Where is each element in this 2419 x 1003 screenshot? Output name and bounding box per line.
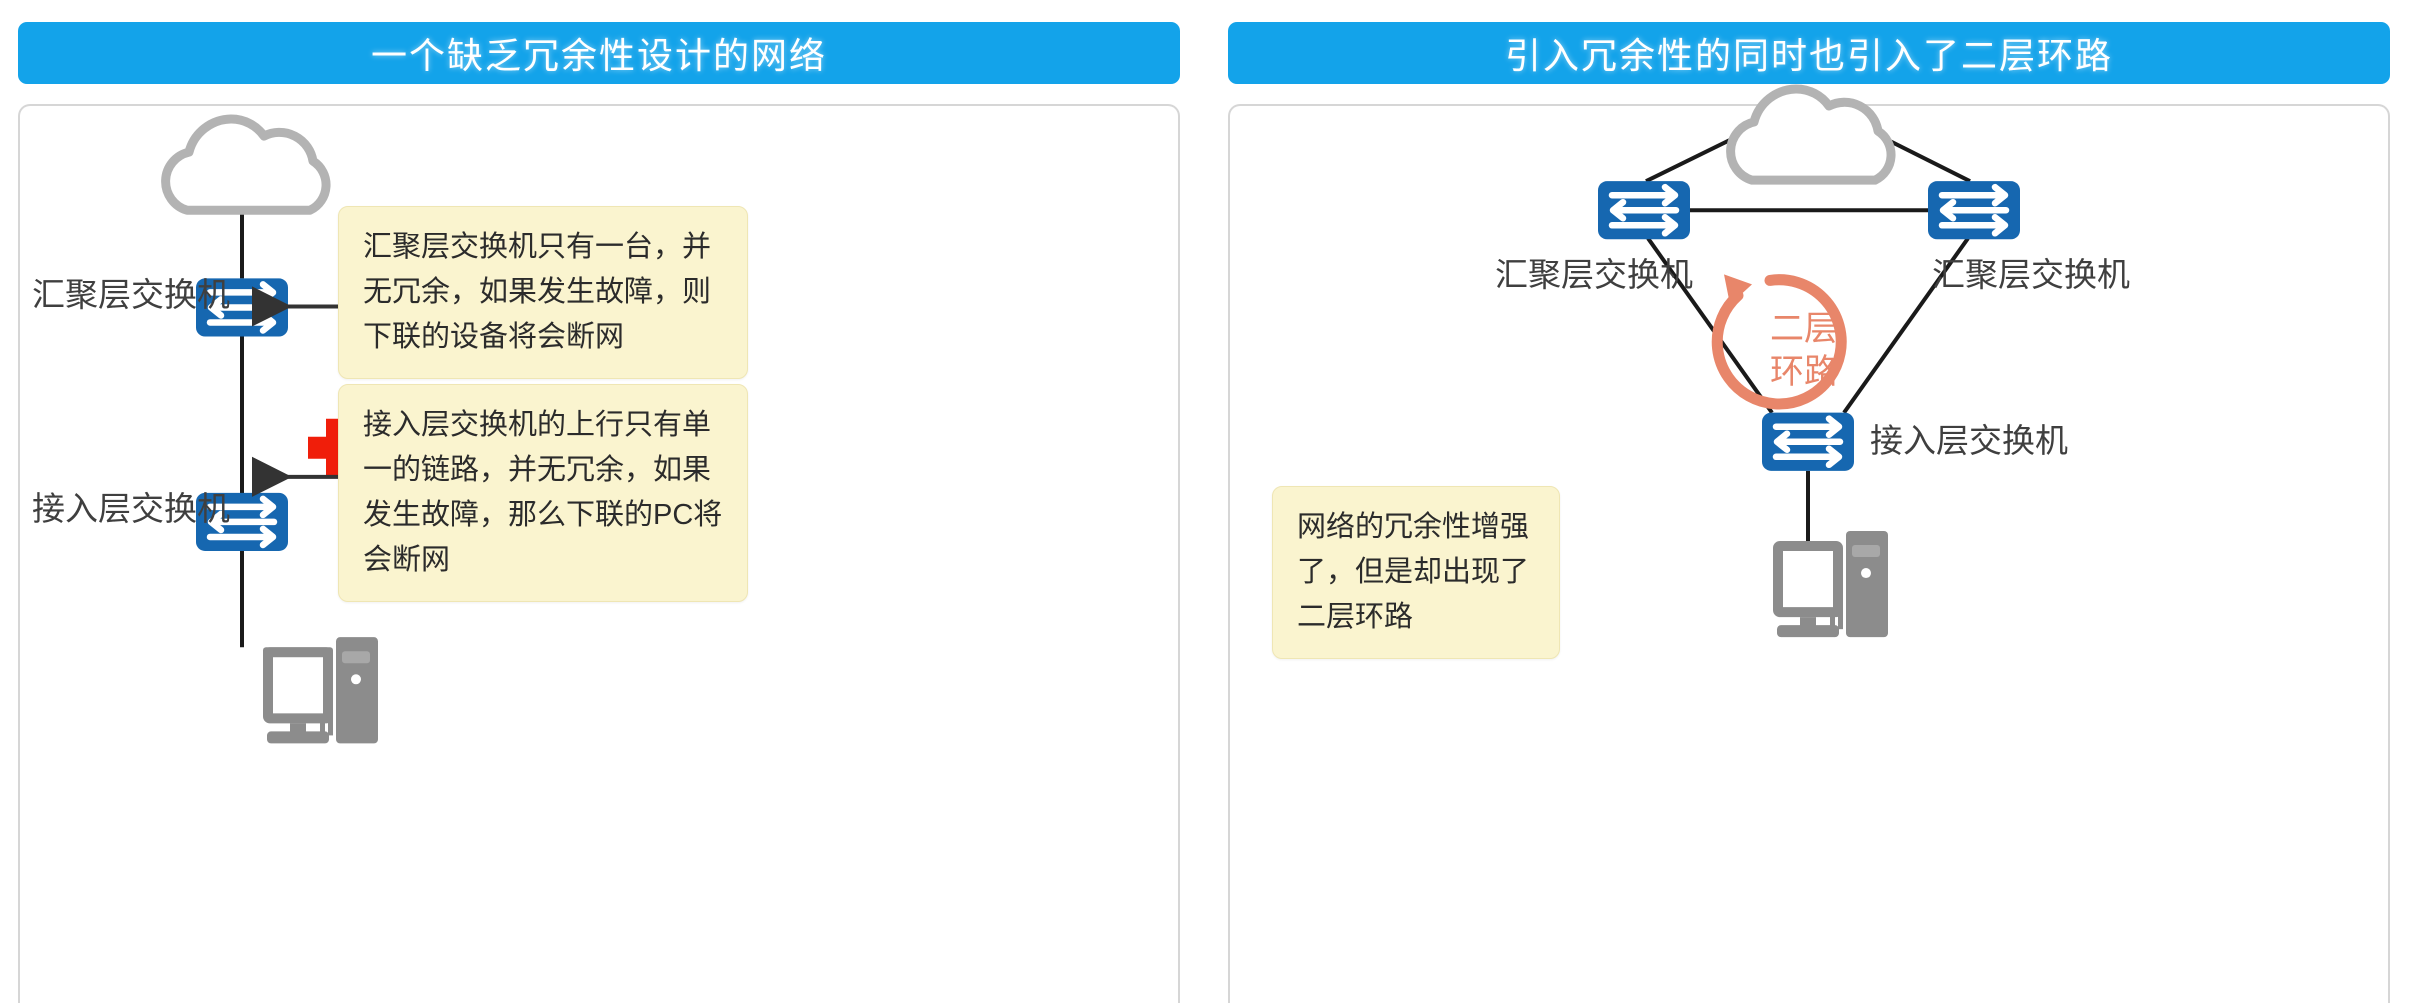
layer2-loop-label-line2: 环路 [1770, 353, 1838, 391]
left-diagram-canvas: 汇聚层交换机 接入层交换机 汇聚层交换机只有一台，并无冗余，如果发生故障，则下联… [20, 106, 1178, 1003]
cloud-icon [1731, 89, 1891, 180]
pc-icon [1773, 531, 1888, 637]
left-access-switch-label: 接入层交换机 [32, 492, 230, 525]
left-note-2: 接入层交换机的上行只有单一的链路，并无冗余，如果发生故障，那么下联的PC将会断网 [338, 384, 748, 602]
right-aggregation-switch-left-label: 汇聚层交换机 [1495, 258, 1693, 291]
left-aggregation-switch-label: 汇聚层交换机 [32, 278, 230, 311]
diagram-root: 一个缺乏冗余性设计的网络 [0, 0, 2419, 1003]
pc-icon [263, 637, 378, 743]
aggregation-switch-right-icon[interactable] [1928, 181, 2020, 239]
right-diagram-canvas: 汇聚层交换机 汇聚层交换机 接入层交换机 二层 环路 网络的冗余性增强了，但是却… [1230, 106, 2388, 1003]
cloud-icon [166, 119, 326, 210]
right-panel-title: 引入冗余性的同时也引入了二层环路 [1228, 22, 2390, 84]
aggregation-switch-left-icon[interactable] [1598, 181, 1690, 239]
right-access-switch-label: 接入层交换机 [1870, 424, 2068, 457]
right-panel: 引入冗余性的同时也引入了二层环路 [1228, 0, 2390, 1003]
left-panel-body: 汇聚层交换机 接入层交换机 汇聚层交换机只有一台，并无冗余，如果发生故障，则下联… [18, 104, 1180, 1003]
layer2-loop-label-line1: 二层 [1770, 310, 1838, 348]
left-panel-title: 一个缺乏冗余性设计的网络 [18, 22, 1180, 84]
left-panel: 一个缺乏冗余性设计的网络 [18, 0, 1180, 1003]
left-note-1: 汇聚层交换机只有一台，并无冗余，如果发生故障，则下联的设备将会断网 [338, 206, 748, 379]
right-note-1: 网络的冗余性增强了，但是却出现了二层环路 [1272, 486, 1560, 659]
access-switch-icon[interactable] [1762, 413, 1854, 471]
layer2-loop-label: 二层 环路 [1770, 308, 1838, 393]
right-aggregation-switch-right-label: 汇聚层交换机 [1932, 258, 2130, 291]
right-panel-body: 汇聚层交换机 汇聚层交换机 接入层交换机 二层 环路 网络的冗余性增强了，但是却… [1228, 104, 2390, 1003]
